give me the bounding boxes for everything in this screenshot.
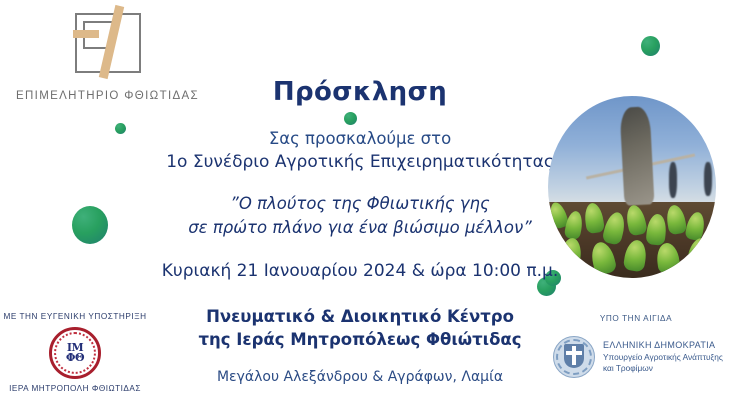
aegis-org-line-2: Υπουργείο Αγροτικής Ανάπτυξης: [603, 352, 723, 363]
aegis-organisation: ΕΛΛΗΝΙΚΗ ΔΗΜΟΚΡΑΤΙΑ Υπουργείο Αγροτικής …: [553, 336, 729, 378]
photo-background-figure-2: [704, 162, 712, 197]
emblem-cross-horizontal-shape: [566, 351, 582, 355]
metropolis-seal-icon: ΙΜ ΦΘ: [49, 327, 101, 379]
event-address: Μεγάλου Αλεξάνδρου & Αγράφων, Λαμία: [160, 369, 560, 385]
event-venue-line-2: της Ιεράς Μητροπόλεως Φθιώτιδας: [160, 329, 560, 352]
green-dot-large-left: [72, 206, 108, 244]
emblem-cross-vertical-shape: [572, 346, 576, 365]
conference-name: 1ο Συνέδριο Αγροτικής Επιχειρηματικότητα…: [160, 152, 560, 173]
event-venue-line-1: Πνευματικό & Διοικητικό Κέντρο: [160, 306, 560, 329]
hellenic-republic-emblem-icon: [553, 336, 595, 378]
conference-theme-line-2: σε πρώτο πλάνο για ένα βιώσιμο μέλλον”: [160, 216, 560, 239]
conference-theme: ”Ο πλούτος της Φθιωτικής γης σε πρώτο πλ…: [160, 192, 560, 239]
chamber-frame-logo-icon: [69, 8, 147, 76]
photo-background-figure-1: [669, 162, 677, 198]
photo-farmer-figure: [619, 106, 654, 206]
support-block: ΜΕ ΤΗΝ ΕΥΓΕΝΙΚΗ ΥΠΟΣΤΗΡΙΞΗ ΙΜ ΦΘ ΙΕΡΑ ΜΗ…: [0, 312, 150, 393]
aegis-org-line-1: ΕΛΛΗΝΙΚΗ ΔΗΜΟΚΡΑΤΙΑ: [603, 340, 723, 350]
event-venue: Πνευματικό & Διοικητικό Κέντρο της Ιεράς…: [160, 306, 560, 352]
support-kicker: ΜΕ ΤΗΝ ΕΥΓΕΝΙΚΗ ΥΠΟΣΤΗΡΙΞΗ: [0, 312, 150, 321]
aegis-kicker: ΥΠΟ ΤΗΝ ΑΙΓΙΔΑ: [571, 314, 701, 323]
logo-e-gold-bar-shape: [73, 30, 99, 38]
farmer-field-photo: [548, 96, 716, 278]
event-datetime: Κυριακή 21 Ιανουαρίου 2024 & ώρα 10:00 π…: [160, 261, 560, 281]
aegis-block: ΥΠΟ ΤΗΝ ΑΙΓΙΔΑ ΕΛΛΗΝΙΚΗ ΔΗΜΟΚΡΑΤΙΑ Υπουρ…: [553, 314, 729, 378]
invitation-text-block: Πρόσκληση Σας προσκαλούμε στο 1ο Συνέδρι…: [160, 78, 560, 385]
logo-e-top-shape: [83, 21, 113, 23]
seal-monogram-bottom: ΦΘ: [66, 353, 84, 363]
green-dot-top-right: [641, 36, 660, 56]
aegis-org-line-3: και Τροφίμων: [603, 363, 723, 374]
page-title: Πρόσκληση: [160, 78, 560, 107]
support-organisation-name: ΙΕΡΑ ΜΗΤΡΟΠΟΛΗ ΦΘΙΩΤΙΔΑΣ: [0, 384, 150, 393]
green-dot-small-left: [115, 123, 126, 134]
invitation-poster: ΕΠΙΜΕΛΗΤΗΡΙΟ ΦΘΙΩΤΙΔΑΣ Πρόσκληση Σας προ…: [0, 0, 730, 411]
aegis-organisation-text: ΕΛΛΗΝΙΚΗ ΔΗΜΟΚΡΑΤΙΑ Υπουργείο Αγροτικής …: [603, 340, 723, 375]
conference-theme-line-1: ”Ο πλούτος της Φθιωτικής γης: [160, 192, 560, 215]
seal-monogram: ΙΜ ΦΘ: [59, 337, 91, 369]
invitation-intro: Σας προσκαλούμε στο: [160, 129, 560, 150]
